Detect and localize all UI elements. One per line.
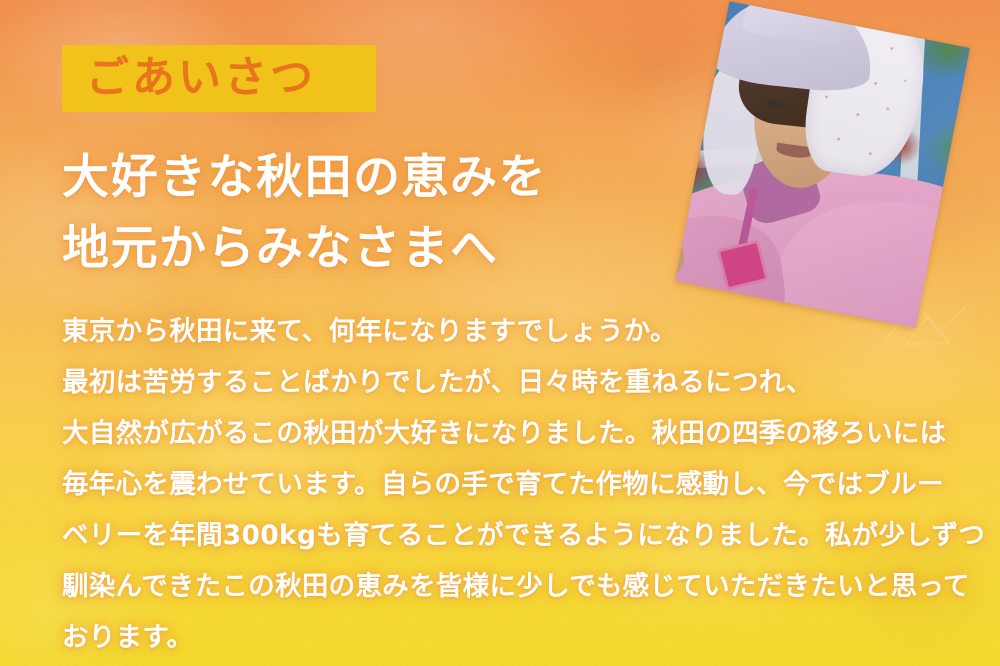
body-line-7: おります。 xyxy=(62,612,957,663)
body-line-4: 毎年心を震わせています。自らの手で育てた作物に感動し、今ではブルー xyxy=(62,459,957,510)
page-title: 大好きな秋田の恵みを 地元からみなさまへ xyxy=(62,142,682,285)
farmer-photo xyxy=(675,1,970,328)
body-line-3: 大自然が広がるこの秋田が大好きになりました。秋田の四季の移ろいには xyxy=(62,408,957,459)
body-line-6: 馴染んできたこの秋田の恵みを皆様に少しでも感じていただきたいと思って xyxy=(62,561,957,612)
section-ribbon-banner: ごあいさつ xyxy=(62,45,376,112)
body-line-1: 東京から秋田に来て、何年になりますでしょうか。 xyxy=(62,306,957,357)
farmer-photo-image xyxy=(675,1,970,328)
body-line-5: ベリーを年間300kgも育てることができるようになりました。私が少しずつ xyxy=(62,510,957,561)
body-line-2: 最初は苦労することばかりでしたが、日々時を重ねるにつれ、 xyxy=(62,357,957,408)
ribbon-label: ごあいさつ xyxy=(86,57,316,100)
greeting-body-text: 東京から秋田に来て、何年になりますでしょうか。 最初は苦労することばかりでしたが… xyxy=(62,306,957,663)
headline-line-2: 地元からみなさまへ xyxy=(62,213,682,284)
greeting-section: ごあいさつ 大好きな秋田の恵みを 地元からみなさまへ 東京から秋田に来て、何年に… xyxy=(0,0,1000,666)
headline-line-1: 大好きな秋田の恵みを xyxy=(62,142,682,213)
